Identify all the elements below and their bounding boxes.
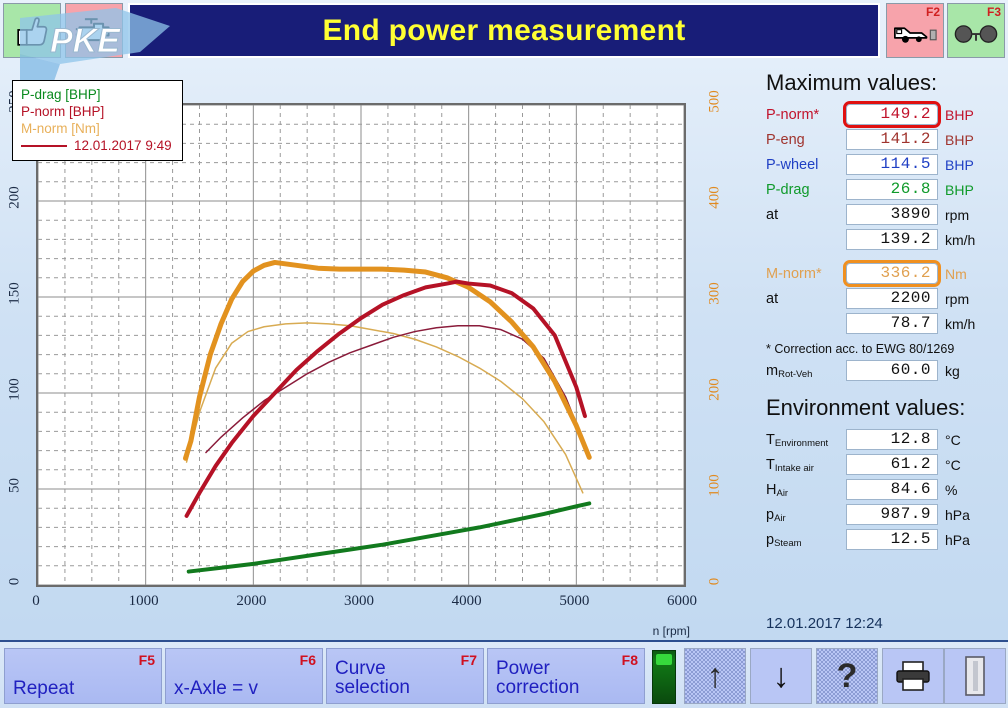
- curve-m-wheel: [187, 323, 583, 493]
- function-key-bar: RepeatF5x-Axle = vF6CurveselectionF7Powe…: [0, 640, 1008, 708]
- function-key-f6[interactable]: x-Axle = vF6: [165, 648, 323, 704]
- legend-run-label: 12.01.2017 9:49: [21, 137, 172, 154]
- env-value-1-label: TIntake air: [766, 457, 846, 473]
- x-tick: 2000: [221, 593, 281, 610]
- env-value-2-value: 84.6: [846, 479, 938, 500]
- function-key-f6-key: F6: [300, 652, 316, 668]
- max-value-1-row: P-eng141.2BHP: [766, 127, 1008, 152]
- max-value-2-label: P-wheel: [766, 157, 846, 173]
- status-led: [652, 650, 676, 704]
- max-value-3-row: P-drag26.8BHP: [766, 177, 1008, 202]
- max-value-5-value: 139.2: [846, 229, 938, 250]
- timestamp: 12.01.2017 12:24: [766, 615, 883, 632]
- max-value-1-value: 141.2: [846, 129, 938, 150]
- function-key-f6-label: x-Axle = v: [174, 679, 258, 698]
- rot-mass-row: mRot-Veh60.0kg: [766, 358, 1008, 383]
- torque-value-2-row: 78.7km/h: [766, 311, 1008, 336]
- correction-note: * Correction acc. to EWG 80/1269: [766, 342, 1008, 356]
- arrow-down-icon: ↓: [773, 659, 790, 693]
- torque-values-rows: M-norm*336.2Nmat2200rpm78.7km/h: [752, 261, 1008, 336]
- vehicle-icon: [892, 21, 938, 47]
- rot-mass-unit: kg: [945, 363, 960, 379]
- env-value-1-value: 61.2: [846, 454, 938, 475]
- y-left-tick: 0: [7, 567, 24, 597]
- y-left-tick: 200: [7, 183, 24, 213]
- function-key-f8[interactable]: PowercorrectionF8: [487, 648, 645, 704]
- chart-legend: P-drag [BHP] P-norm [BHP] M-norm [Nm] 12…: [12, 80, 183, 161]
- max-values-heading: Maximum values:: [766, 70, 1008, 96]
- y-right-tick: 100: [707, 469, 724, 503]
- curve-p-drag: [189, 503, 590, 571]
- y-right-tick: 200: [707, 373, 724, 407]
- environment-rows: TEnvironment12.8°CTIntake air61.2°CHAir8…: [752, 427, 1008, 552]
- values-panel: Maximum values: P-norm*149.2BHPP-eng141.…: [752, 62, 1008, 640]
- printer-button[interactable]: [882, 648, 944, 704]
- env-value-0-row: TEnvironment12.8°C: [766, 427, 1008, 452]
- env-value-0-label: TEnvironment: [766, 432, 846, 448]
- page-title: End power measurement: [322, 14, 685, 48]
- max-value-4-value: 3890: [846, 204, 938, 225]
- torque-value-1-unit: rpm: [945, 291, 969, 307]
- title-bar: End power measurement: [128, 3, 880, 58]
- axle-rollers-icon: [952, 22, 1000, 48]
- legend-line-sample: [21, 145, 67, 147]
- env-value-4-value: 12.5: [846, 529, 938, 550]
- y-right-tick: 500: [707, 85, 724, 119]
- function-key-f8-label-2: correction: [496, 678, 579, 697]
- function-key-f8-label: Powercorrection: [496, 659, 579, 697]
- env-value-1-row: TIntake air61.2°C: [766, 452, 1008, 477]
- y-left-tick: 100: [7, 375, 24, 405]
- torque-value-0-unit: Nm: [945, 266, 967, 282]
- function-key-f7[interactable]: CurveselectionF7: [326, 648, 484, 704]
- function-key-f7-label-2: selection: [335, 678, 410, 697]
- max-value-0-row: P-norm*149.2BHP: [766, 102, 1008, 127]
- env-value-4-unit: hPa: [945, 532, 970, 548]
- x-tick: 3000: [329, 593, 389, 610]
- x-axis-title: n [rpm]: [653, 624, 690, 638]
- x-tick: 4000: [437, 593, 497, 610]
- legend-item-m-norm: M-norm [Nm]: [21, 120, 172, 137]
- y-left-tick: 150: [7, 279, 24, 309]
- max-value-5-row: 139.2km/h: [766, 227, 1008, 252]
- function-key-f5-label: Repeat: [13, 679, 74, 698]
- thumbs-up-button[interactable]: [3, 3, 61, 58]
- torque-value-0-row: M-norm*336.2Nm: [766, 261, 1008, 286]
- dyno-chart: 050100150200250 0100200300400500 0100020…: [0, 62, 748, 640]
- max-value-4-unit: rpm: [945, 207, 969, 223]
- y-left-tick: 50: [7, 471, 24, 501]
- max-value-4-row: at3890rpm: [766, 202, 1008, 227]
- max-value-3-unit: BHP: [945, 182, 974, 198]
- printer-icon: [893, 660, 933, 692]
- function-key-f5-key: F5: [139, 652, 155, 668]
- help-button: ?: [816, 648, 878, 704]
- rot-mass-label: mRot-Veh: [766, 363, 846, 379]
- arrow-down-button[interactable]: ↓: [750, 648, 812, 704]
- plot-area: [36, 103, 686, 587]
- curves-svg: [38, 105, 684, 585]
- function-key-f8-key: F8: [622, 652, 638, 668]
- max-value-2-unit: BHP: [945, 157, 974, 173]
- env-value-3-unit: hPa: [945, 507, 970, 523]
- torque-value-0-value: 336.2: [846, 263, 938, 284]
- torque-value-0-label: M-norm*: [766, 266, 846, 282]
- max-value-0-value: 149.2: [846, 104, 938, 125]
- y-right-tick: 300: [707, 277, 724, 311]
- max-value-1-unit: BHP: [945, 132, 974, 148]
- max-value-2-value: 114.5: [846, 154, 938, 175]
- f3-key-label: F3: [987, 5, 1001, 19]
- help-icon: ?: [837, 659, 858, 693]
- function-key-f5[interactable]: RepeatF5: [4, 648, 162, 704]
- exit-door-button[interactable]: [944, 648, 1006, 704]
- curve-m-norm: [186, 262, 590, 458]
- max-value-4-label: at: [766, 207, 846, 223]
- arrow-up-icon: ↑: [707, 659, 724, 693]
- max-value-0-label: P-norm*: [766, 107, 846, 123]
- env-value-0-unit: °C: [945, 432, 961, 448]
- f2-key-label: F2: [926, 5, 940, 19]
- torque-value-2-unit: km/h: [945, 316, 975, 332]
- torque-value-1-value: 2200: [846, 288, 938, 309]
- y-right-tick: 400: [707, 181, 724, 215]
- x-tick: 6000: [652, 593, 712, 610]
- thumbs-up-icon: [15, 14, 49, 48]
- top-toolbar: End power measurement F2 F3: [0, 0, 1008, 62]
- env-value-3-label: pAir: [766, 507, 846, 523]
- max-values-rows: P-norm*149.2BHPP-eng141.2BHPP-wheel114.5…: [752, 102, 1008, 252]
- curve-p-wheel: [206, 326, 580, 453]
- env-value-4-row: pSteam12.5hPa: [766, 527, 1008, 552]
- engine-icon: [74, 16, 114, 46]
- torque-value-1-row: at2200rpm: [766, 286, 1008, 311]
- torque-value-2-value: 78.7: [846, 313, 938, 334]
- arrow-up-button: ↑: [684, 648, 746, 704]
- rotating-mass-row: mRot-Veh60.0kg: [752, 358, 1008, 383]
- max-value-0-unit: BHP: [945, 107, 974, 123]
- f2-vehicle-button[interactable]: F2: [886, 3, 944, 58]
- function-key-f7-key: F7: [461, 652, 477, 668]
- f3-axle-button[interactable]: F3: [947, 3, 1005, 58]
- environment-heading: Environment values:: [766, 395, 1008, 421]
- max-value-5-unit: km/h: [945, 232, 975, 248]
- env-value-2-unit: %: [945, 482, 957, 498]
- env-value-2-row: HAir84.6%: [766, 477, 1008, 502]
- max-value-2-row: P-wheel114.5BHP: [766, 152, 1008, 177]
- env-value-3-value: 987.9: [846, 504, 938, 525]
- legend-item-p-drag: P-drag [BHP]: [21, 86, 172, 103]
- engine-button[interactable]: [65, 3, 123, 58]
- max-value-1-label: P-eng: [766, 132, 846, 148]
- legend-run-text: 12.01.2017 9:49: [74, 138, 172, 153]
- env-value-0-value: 12.8: [846, 429, 938, 450]
- env-value-4-label: pSteam: [766, 532, 846, 548]
- x-tick: 1000: [114, 593, 174, 610]
- x-tick: 5000: [544, 593, 604, 610]
- max-value-3-value: 26.8: [846, 179, 938, 200]
- x-tick: 0: [6, 593, 66, 610]
- application-window: End power measurement F2 F3: [0, 0, 1008, 708]
- max-value-3-label: P-drag: [766, 182, 846, 198]
- function-key-f7-label: Curveselection: [335, 659, 410, 697]
- legend-item-p-norm: P-norm [BHP]: [21, 103, 172, 120]
- rot-mass-value: 60.0: [846, 360, 938, 381]
- torque-value-1-label: at: [766, 291, 846, 307]
- env-value-3-row: pAir987.9hPa: [766, 502, 1008, 527]
- env-value-1-unit: °C: [945, 457, 961, 473]
- exit-door-icon: [963, 655, 987, 697]
- env-value-2-label: HAir: [766, 482, 846, 498]
- curve-p-norm: [187, 282, 585, 516]
